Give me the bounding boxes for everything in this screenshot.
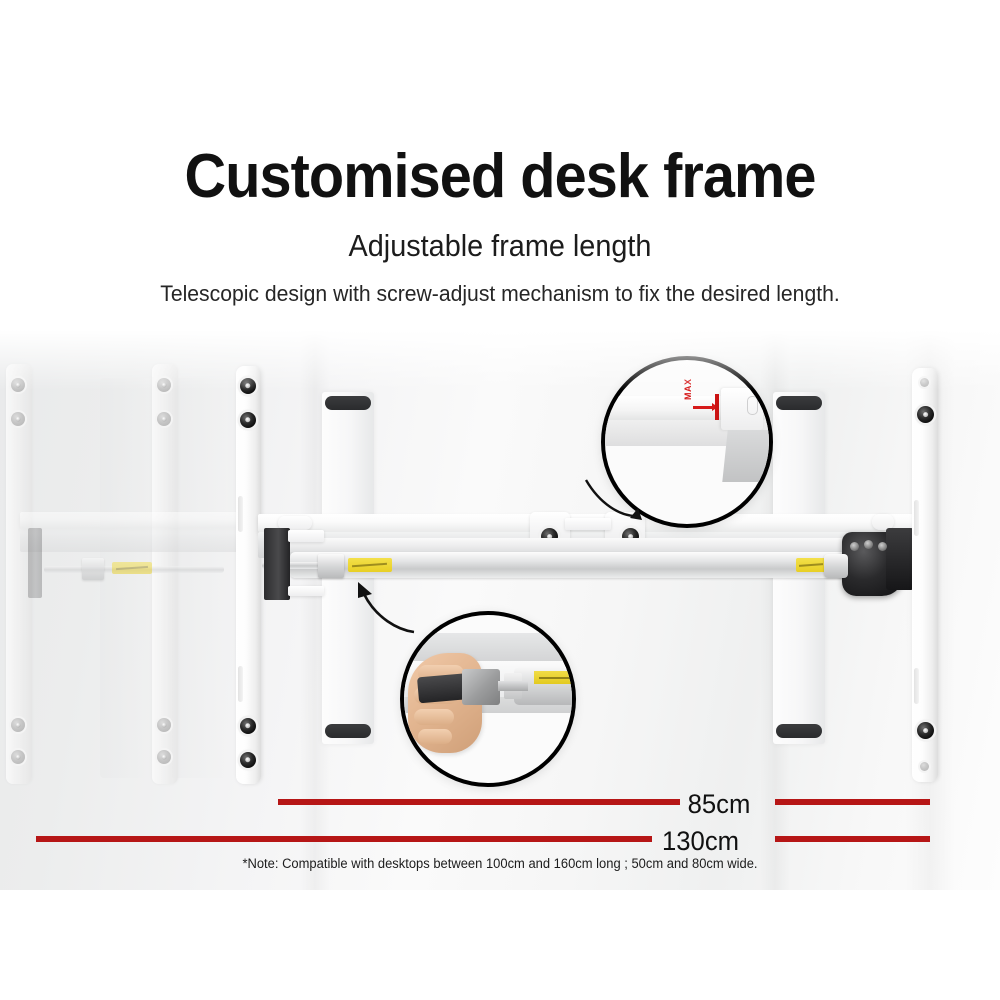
motor-bolt-2: [864, 540, 873, 549]
left-mount-flange: [288, 530, 324, 542]
motor-bolt-1: [850, 542, 859, 551]
detail-warning-sticker: [534, 671, 576, 684]
allen-key-head: [462, 669, 500, 705]
allen-key-shaft: [498, 681, 528, 691]
compatibility-note: *Note: Compatible with desktops between …: [20, 856, 980, 871]
motor-bolt-3: [878, 542, 887, 551]
bracket-screw-bottom: [240, 718, 256, 734]
ghost-screw: [11, 750, 25, 764]
page-title: Customised desk frame: [35, 146, 965, 208]
ghost-screw: [157, 412, 171, 426]
right-column-pad-top: [776, 396, 822, 410]
right-bracket-screw-bottom: [917, 722, 934, 739]
ghost-column-1: [100, 378, 160, 778]
ghost-beam: [20, 512, 260, 528]
callout-2-leader-arrow: [340, 574, 420, 644]
measure-label-max: 130cm: [662, 826, 739, 857]
ghost-screw: [157, 718, 171, 732]
ghost-adjust-nut: [82, 558, 104, 580]
subtitle: Adjustable frame length: [35, 228, 965, 264]
beam-inner-channel: [282, 538, 882, 552]
left-column-pad-bottom: [325, 724, 371, 738]
left-column-pad-top: [325, 396, 371, 410]
measure-line-max-left: [36, 836, 652, 842]
callout-screw-adjust: [400, 611, 576, 787]
product-feature-image: Customised desk frame Adjustable frame l…: [0, 0, 1000, 1000]
callout-1-leader-arrow: [580, 470, 660, 530]
motor-housing-cap: [886, 528, 914, 590]
right-bracket-screw-top: [917, 406, 934, 423]
measure-line-min-right: [775, 799, 930, 805]
measure-line-max-right: [775, 836, 930, 842]
product-photo: MAX: [0, 330, 1000, 890]
max-arrow-icon: [693, 406, 713, 409]
max-stop-line: [715, 394, 719, 420]
ghost-screw: [11, 412, 25, 426]
bracket-screw-top2: [240, 412, 256, 428]
left-mount-block: [264, 528, 290, 600]
description-text: Telescopic design with screw-adjust mech…: [30, 281, 970, 307]
beam-slot-hole: [747, 396, 758, 415]
warning-sticker-left: [348, 558, 392, 572]
ghost-mount-plate: [28, 528, 42, 598]
right-bracket-hole-top: [920, 378, 929, 387]
measure-label-min: 85cm: [688, 789, 751, 820]
ghost-screw: [11, 718, 25, 732]
right-bracket-hole-bottom: [920, 762, 929, 771]
left-mount-flange-lower: [288, 586, 324, 596]
ghost-screw: [157, 750, 171, 764]
warning-sticker-right: [796, 558, 826, 572]
ghost-beam-body: [20, 528, 260, 552]
ghost-warning-sticker: [112, 562, 152, 574]
max-marker-label: MAX: [683, 379, 693, 401]
bracket-screw-top: [240, 378, 256, 394]
ghost-screw: [11, 378, 25, 392]
ghost-screw: [157, 378, 171, 392]
bracket-screw-bottom2: [240, 752, 256, 768]
right-leg-bracket: [912, 368, 938, 782]
beam-lower-section: [722, 430, 773, 482]
measure-line-min-left: [278, 799, 680, 805]
motor-coupling: [824, 554, 848, 578]
right-column-pad-bottom: [776, 724, 822, 738]
